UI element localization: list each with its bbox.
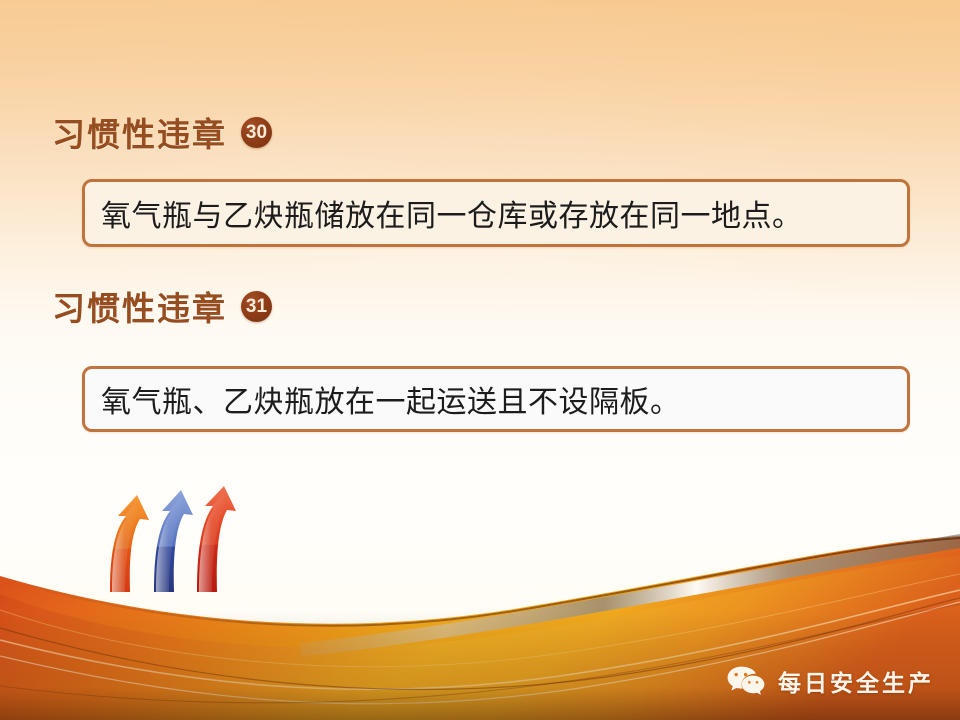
watermark-text: 每日安全生产 <box>778 664 934 698</box>
watermark: 每日安全生产 <box>726 664 934 698</box>
wechat-icon <box>726 665 766 697</box>
section-heading-label-1: 习惯性违章 <box>52 108 227 156</box>
statement-text-1: 氧气瓶与乙炔瓶储放在同一仓库或存放在同一地点。 <box>101 191 803 235</box>
section-heading-label-2: 习惯性违章 <box>52 282 227 330</box>
statement-box-1: 氧气瓶与乙炔瓶储放在同一仓库或存放在同一地点。 <box>82 179 910 247</box>
section-badge-2: 31 <box>241 291 272 322</box>
statement-box-2: 氧气瓶、乙炔瓶放在一起运送且不设隔板。 <box>82 366 910 432</box>
slide-canvas: 习惯性违章 30 氧气瓶与乙炔瓶储放在同一仓库或存放在同一地点。 习惯性违章 3… <box>0 0 960 720</box>
section-badge-1: 30 <box>241 117 272 148</box>
section-heading-1: 习惯性违章 30 <box>52 108 272 156</box>
statement-text-2: 氧气瓶、乙炔瓶放在一起运送且不设隔板。 <box>101 377 681 421</box>
section-heading-2: 习惯性违章 31 <box>52 282 272 330</box>
